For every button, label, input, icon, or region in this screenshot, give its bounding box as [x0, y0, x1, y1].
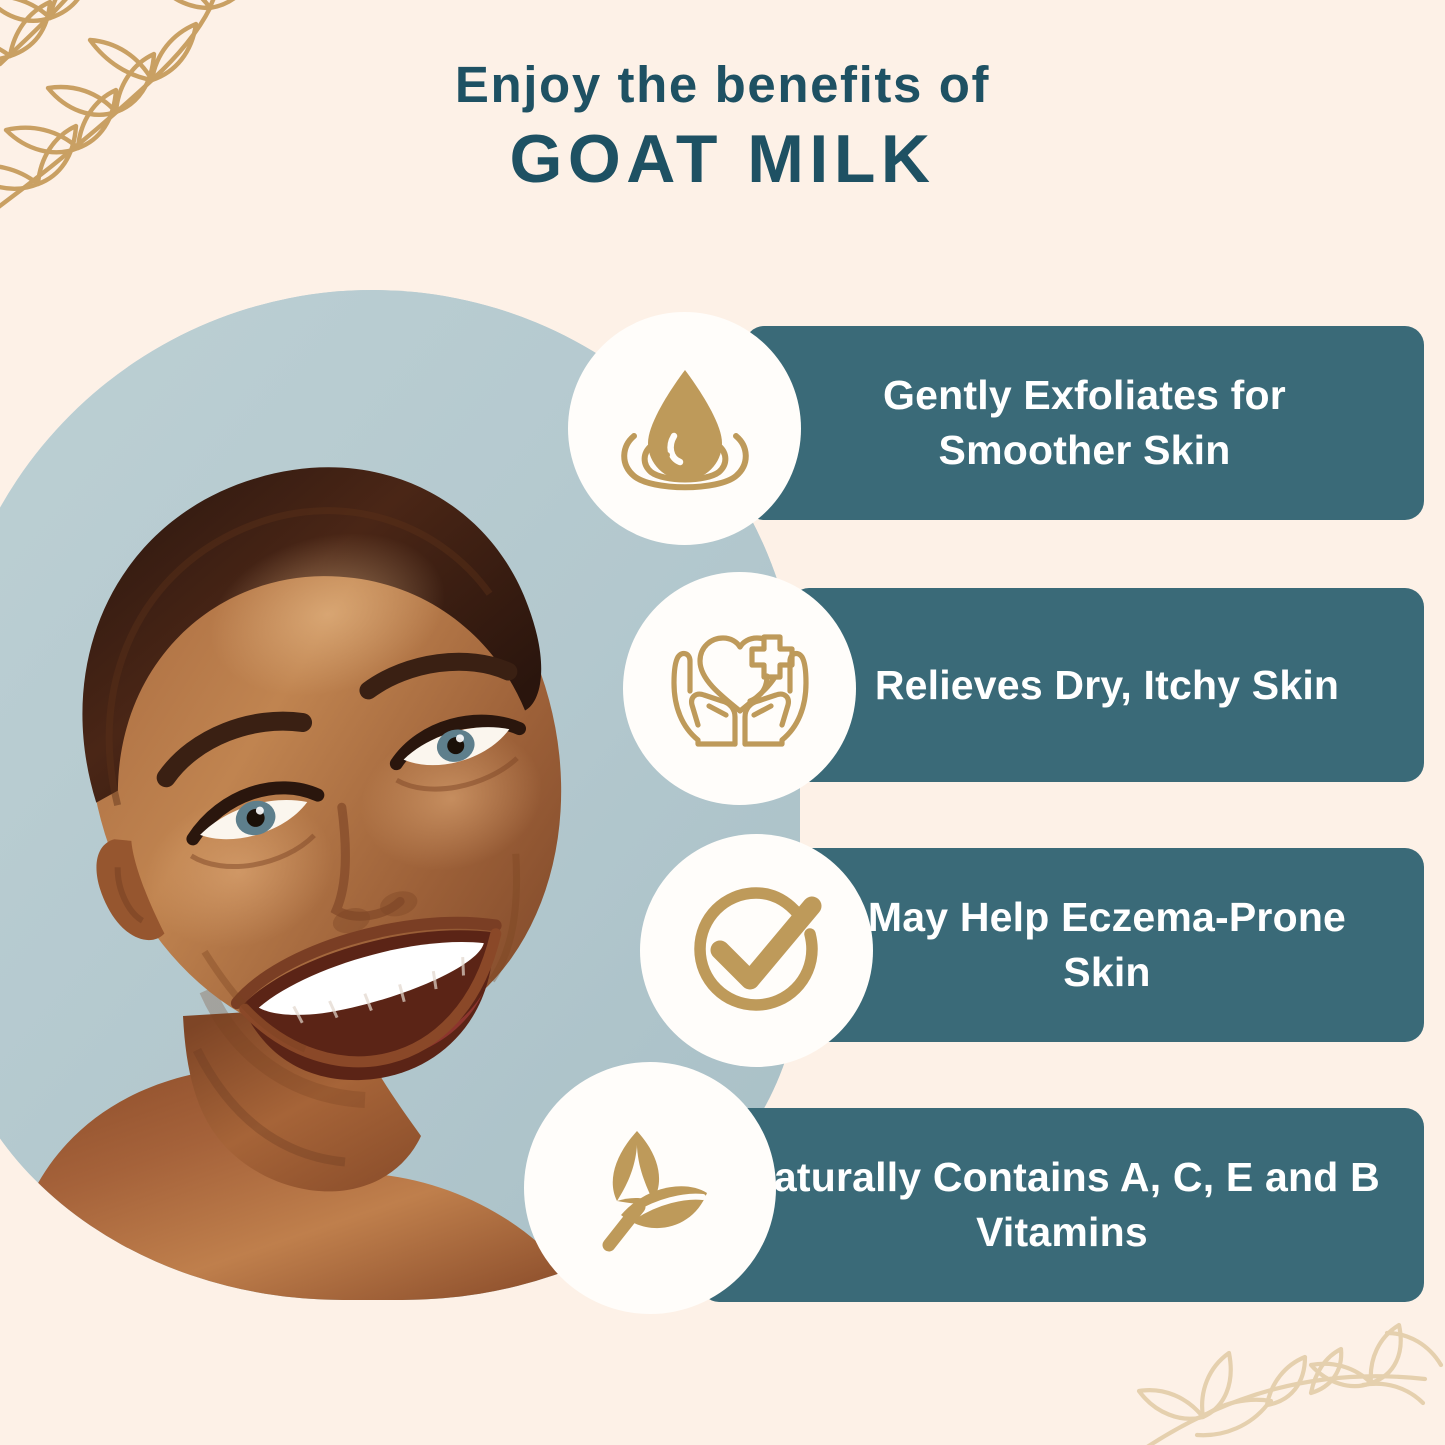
page-title: Enjoy the benefits of GOAT MILK	[0, 58, 1445, 201]
benefit-label-4: Naturally Contains A, C, E and B Vitamin…	[716, 1150, 1408, 1259]
benefit-pill-2: Relieves Dry, Itchy Skin	[790, 588, 1424, 782]
benefit-pill-3: May Help Eczema-Prone Skin	[790, 848, 1424, 1042]
benefit-icon-badge-2	[623, 572, 856, 805]
benefit-icon-badge-1	[568, 312, 801, 545]
check-circle-icon	[682, 876, 832, 1026]
hands-holding-heart-cross-icon	[664, 613, 816, 765]
benefit-pill-4: Naturally Contains A, C, E and B Vitamin…	[700, 1108, 1424, 1302]
leaf-sprig-icon	[575, 1113, 725, 1263]
benefit-pill-1: Gently Exfoliates for Smoother Skin	[745, 326, 1424, 520]
benefit-label-1: Gently Exfoliates for Smoother Skin	[779, 368, 1391, 477]
water-drop-ripple-icon	[610, 354, 760, 504]
goat-milk-benefits-poster: Enjoy the benefits of GOAT MILK	[0, 0, 1445, 1445]
benefit-icon-badge-4	[524, 1062, 776, 1314]
benefit-label-2: Relieves Dry, Itchy Skin	[821, 658, 1393, 713]
headline-line-2: GOAT MILK	[0, 118, 1445, 201]
benefit-label-3: May Help Eczema-Prone Skin	[821, 890, 1393, 999]
headline-line-1: Enjoy the benefits of	[0, 58, 1445, 112]
benefit-icon-badge-3	[640, 834, 873, 1067]
